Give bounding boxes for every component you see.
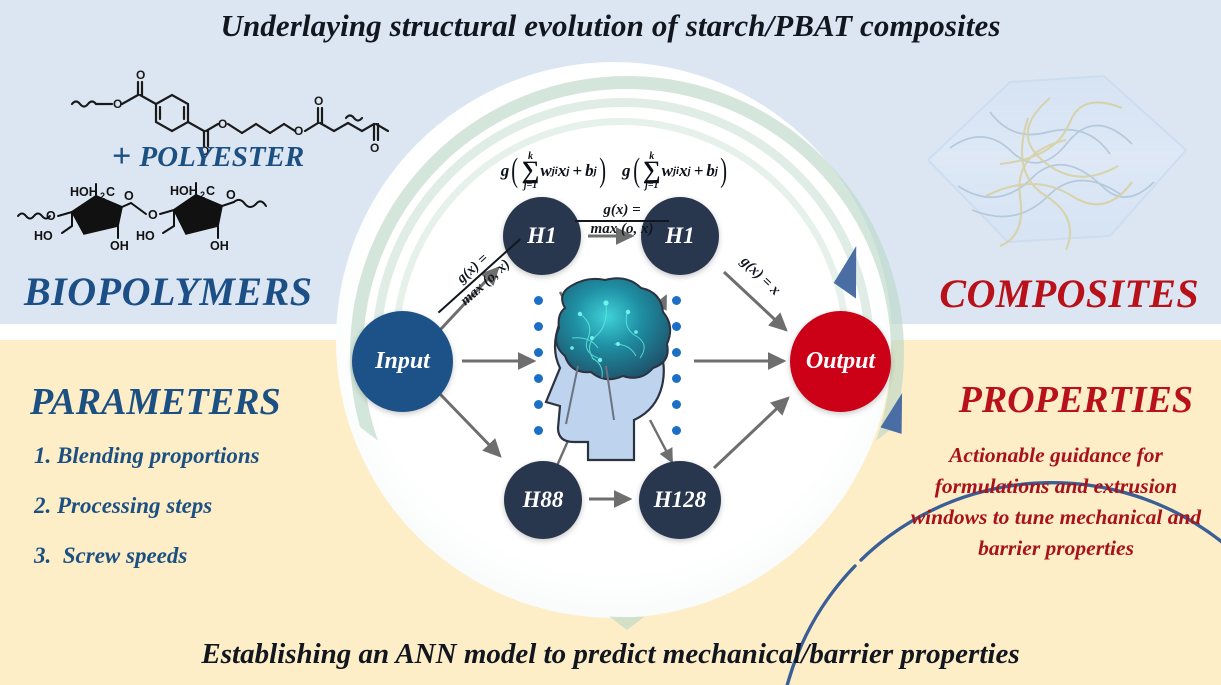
page-title-top: Underlaying structural evolution of star… (0, 8, 1221, 44)
dot-icon (534, 296, 543, 305)
svg-text:O: O (124, 189, 134, 203)
formula-sigma-group: k ∑ j=1 (643, 152, 661, 191)
formula-b-sub: j (715, 165, 718, 177)
list-item: 3. Screw speeds (34, 543, 364, 569)
svg-text:O: O (148, 208, 158, 222)
formula-sigma-bottom: j=1 (645, 181, 658, 191)
node-output[interactable]: Output (790, 311, 891, 412)
node-output-label: Output (806, 348, 875, 375)
formula-sigma-group: k ∑ j=1 (522, 152, 540, 191)
dot-icon (672, 296, 681, 305)
properties-label: PROPERTIES (959, 378, 1193, 422)
svg-text:HO: HO (34, 229, 53, 243)
properties-description: Actionable guidance for formulations and… (898, 440, 1214, 564)
svg-text:OH: OH (210, 239, 229, 253)
composite-film-art (928, 76, 1186, 250)
formula-b: b (585, 161, 594, 181)
svg-text:O: O (370, 141, 379, 155)
svg-text:O: O (294, 124, 303, 138)
svg-text:C: C (206, 184, 215, 198)
formula-paren-close: ) (720, 157, 727, 186)
formula-paren-open: ( (512, 157, 519, 186)
svg-text:HO: HO (136, 229, 155, 243)
formula-paren-close: ) (599, 157, 606, 186)
graphical-abstract: O O O O O O O (0, 0, 1221, 685)
svg-text:O: O (218, 117, 227, 131)
dot-icon (672, 374, 681, 383)
dot-icon (534, 348, 543, 357)
node-hidden-h128[interactable]: H128 (639, 461, 721, 539)
svg-text:O: O (46, 209, 56, 223)
dot-column-right (672, 296, 681, 435)
dot-icon (534, 400, 543, 409)
activation-label-middle: g(x) = max (o, x) (575, 203, 669, 237)
dot-icon (534, 322, 543, 331)
formula-paren-open: ( (633, 157, 640, 186)
pbat-structure (72, 82, 388, 146)
formula-b-sub: j (594, 165, 597, 177)
formula-w: w (662, 161, 673, 181)
node-hidden-label: H1 (665, 223, 694, 249)
formula-plus: + (569, 161, 585, 181)
page-title-bottom: Establishing an ANN model to predict mec… (0, 638, 1221, 671)
dot-icon (672, 400, 681, 409)
dot-icon (672, 322, 681, 331)
dot-icon (534, 374, 543, 383)
formula-g: g (501, 161, 510, 181)
brain-head-icon (546, 278, 670, 460)
svg-text:2: 2 (100, 191, 105, 201)
formula-sigma-bottom: j=1 (524, 181, 537, 191)
neuron-formula-left: g ( k ∑ j=1 w ji x j + b j ) (501, 152, 608, 191)
svg-text:O: O (136, 68, 145, 82)
formula-g: g (622, 161, 631, 181)
dot-icon (534, 426, 543, 435)
node-input[interactable]: Input (352, 311, 453, 412)
svg-text:O: O (314, 94, 323, 108)
polyester-label: + POLYESTER (112, 140, 304, 174)
svg-text:OH: OH (110, 239, 129, 253)
formula-b: b (706, 161, 715, 181)
activation-formula-row: g ( k ∑ j=1 w ji x j + b j ) g ( k ∑ j=1… (455, 152, 775, 191)
neuron-formula-right: g ( k ∑ j=1 w ji x j + b j ) (622, 152, 729, 191)
svg-text:O: O (226, 188, 236, 202)
node-input-label: Input (375, 348, 430, 375)
plus-icon: + (112, 140, 131, 174)
dot-icon (672, 426, 681, 435)
biopolymers-label: BIOPOLYMERS (24, 268, 313, 315)
dot-icon (672, 348, 681, 357)
formula-x: x (679, 161, 688, 181)
node-hidden-label: H128 (654, 487, 706, 513)
polyester-text: POLYESTER (139, 141, 304, 174)
formula-plus: + (691, 161, 707, 181)
svg-text:C: C (106, 185, 115, 199)
list-item: 1. Blending proportions (34, 443, 364, 469)
node-hidden-label: H1 (527, 223, 556, 249)
list-item: 2. Processing steps (34, 493, 364, 519)
svg-text:HOH: HOH (70, 185, 98, 199)
node-hidden-h88[interactable]: H88 (504, 461, 582, 539)
node-hidden-label: H88 (523, 487, 564, 513)
parameters-list: 1. Blending proportions 2. Processing st… (34, 443, 364, 593)
activation-line-1: g(x) = (575, 203, 669, 222)
svg-text:2: 2 (200, 190, 205, 200)
parameters-label: PARAMETERS (30, 380, 281, 424)
composites-label: COMPOSITES (939, 270, 1199, 317)
formula-w: w (540, 161, 551, 181)
activation-line-2: max (o, x) (591, 221, 654, 237)
dot-column-left (534, 296, 543, 435)
svg-text:HOH: HOH (170, 184, 198, 198)
svg-text:O: O (113, 97, 122, 111)
